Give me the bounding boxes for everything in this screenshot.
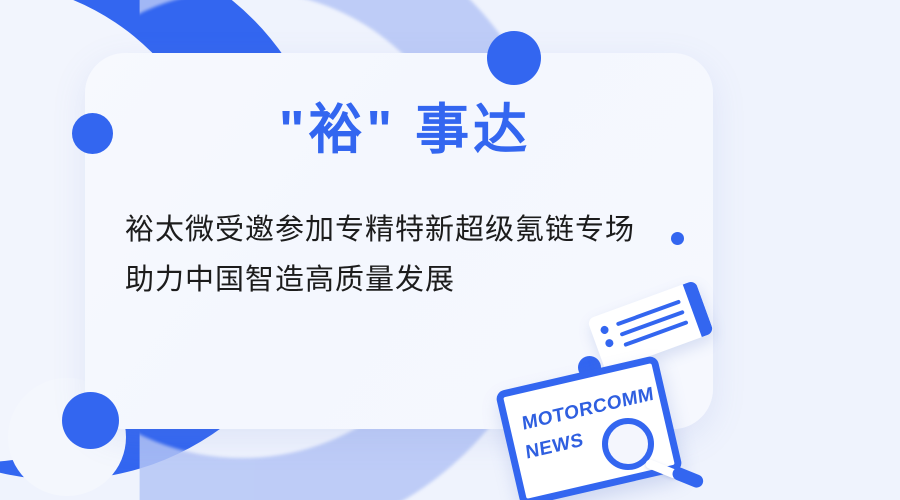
decorative-dot-bottom-left bbox=[62, 392, 119, 449]
promo-banner: "裕" 事达 裕太微受邀参加专精特新超级氪链专场 助力中国智造高质量发展 MOT… bbox=[0, 0, 900, 500]
banner-subtitle-line-1: 裕太微受邀参加专精特新超级氪链专场 bbox=[125, 205, 685, 255]
decorative-dot-top-center bbox=[487, 31, 541, 85]
memo-bullet-dots-icon bbox=[599, 325, 616, 354]
magnifier-handle-tip bbox=[671, 465, 706, 489]
memo-text-lines-icon bbox=[616, 299, 691, 353]
decorative-dot-top-left bbox=[72, 113, 113, 154]
magnifying-glass-icon bbox=[602, 418, 712, 498]
news-illustration: MOTORCOMM NEWS bbox=[490, 290, 740, 500]
banner-headline: "裕" 事达 bbox=[125, 98, 685, 163]
